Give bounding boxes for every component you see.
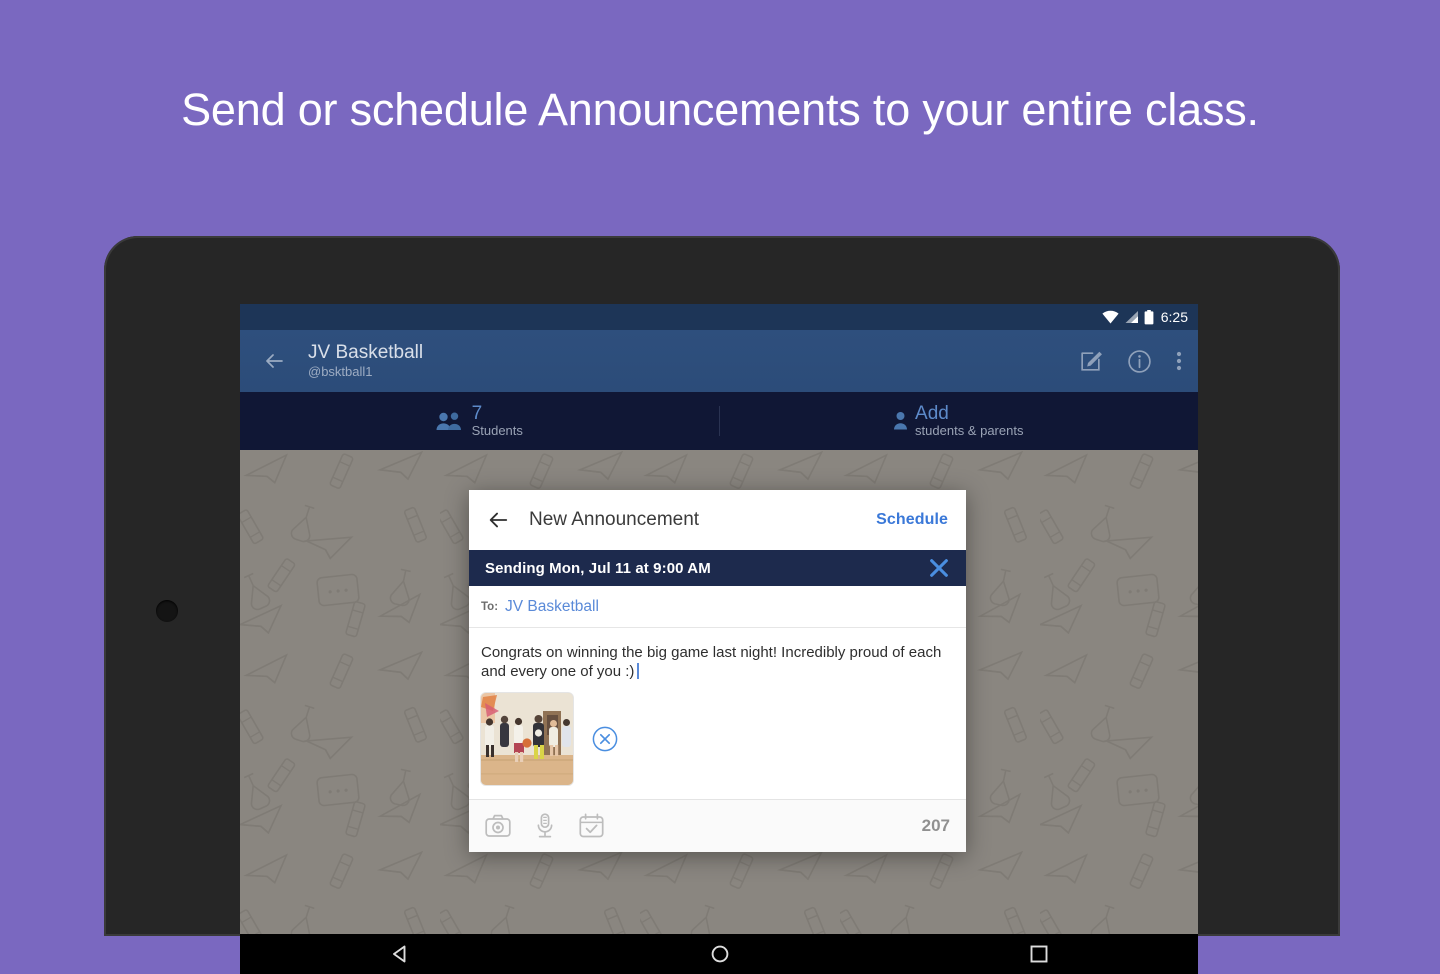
tablet-screen: 6:25 JV Basketball @bsktball1 — [240, 304, 1198, 934]
add-label: Add — [915, 404, 1023, 423]
signal-icon — [1124, 310, 1139, 324]
recipient-row[interactable]: To: JV Basketball — [469, 586, 966, 628]
message-text[interactable]: Congrats on winning the big game last ni… — [481, 643, 954, 681]
scheduled-send-text: Sending Mon, Jul 11 at 9:00 AM — [485, 560, 928, 577]
marketing-headline: Send or schedule Announcements to your e… — [0, 84, 1440, 136]
schedule-button[interactable]: Schedule — [876, 511, 948, 529]
class-handle: @bsktball1 — [308, 364, 1054, 380]
add-sublabel: students & parents — [915, 423, 1023, 438]
info-icon[interactable] — [1127, 349, 1152, 374]
class-name: JV Basketball — [308, 342, 1054, 364]
class-title-block: JV Basketball @bsktball1 — [308, 342, 1054, 380]
back-arrow-icon[interactable] — [487, 509, 509, 531]
back-arrow-icon[interactable] — [262, 349, 286, 373]
remove-attachment-icon[interactable] — [592, 726, 618, 752]
camera-icon[interactable] — [485, 813, 511, 839]
wifi-icon — [1102, 310, 1119, 324]
members-text: 7 Students — [472, 404, 523, 438]
add-members-text: Add students & parents — [915, 404, 1023, 438]
dialog-header: New Announcement Schedule — [469, 490, 966, 550]
message-text-value: Congrats on winning the big game last ni… — [481, 644, 945, 680]
recipient-value[interactable]: JV Basketball — [505, 598, 599, 616]
new-announcement-dialog: New Announcement Schedule Sending Mon, J… — [469, 490, 966, 852]
android-recents-icon[interactable] — [1030, 945, 1048, 963]
android-back-icon[interactable] — [390, 944, 410, 964]
compose-icon[interactable] — [1078, 349, 1103, 374]
basketball-game-photo — [481, 693, 573, 785]
message-body-area[interactable]: Congrats on winning the big game last ni… — [469, 628, 966, 799]
attachment-row — [481, 693, 954, 799]
scheduled-send-banner: Sending Mon, Jul 11 at 9:00 AM — [469, 550, 966, 586]
screenshot-stage: Send or schedule Announcements to your e… — [0, 0, 1440, 900]
front-camera-dot — [156, 600, 178, 622]
tablet-device-frame: 6:25 JV Basketball @bsktball1 — [104, 236, 1340, 936]
members-label: Students — [472, 423, 523, 438]
android-home-icon[interactable] — [710, 944, 730, 964]
members-count-column[interactable]: 7 Students — [240, 404, 719, 438]
attachment-thumbnail[interactable] — [481, 693, 573, 785]
calendar-check-icon[interactable] — [579, 813, 604, 839]
members-count: 7 — [472, 404, 523, 423]
person-add-icon — [894, 411, 907, 431]
to-label: To: — [481, 601, 498, 613]
add-members-column[interactable]: Add students & parents — [720, 404, 1199, 438]
text-caret — [637, 663, 639, 679]
app-bar: JV Basketball @bsktball1 — [240, 330, 1198, 392]
overflow-menu-icon[interactable] — [1176, 349, 1182, 373]
character-count: 207 — [922, 816, 950, 836]
dialog-title: New Announcement — [529, 509, 876, 531]
android-status-bar: 6:25 — [240, 304, 1198, 330]
close-x-icon[interactable] — [928, 557, 950, 579]
battery-icon — [1144, 310, 1154, 325]
microphone-icon[interactable] — [535, 813, 555, 839]
status-bar-clock: 6:25 — [1161, 309, 1188, 325]
class-members-bar: 7 Students Add students & parents — [240, 392, 1198, 450]
android-navigation-bar — [240, 934, 1198, 974]
composer-toolbar: 207 — [469, 799, 966, 852]
people-icon — [436, 410, 464, 432]
